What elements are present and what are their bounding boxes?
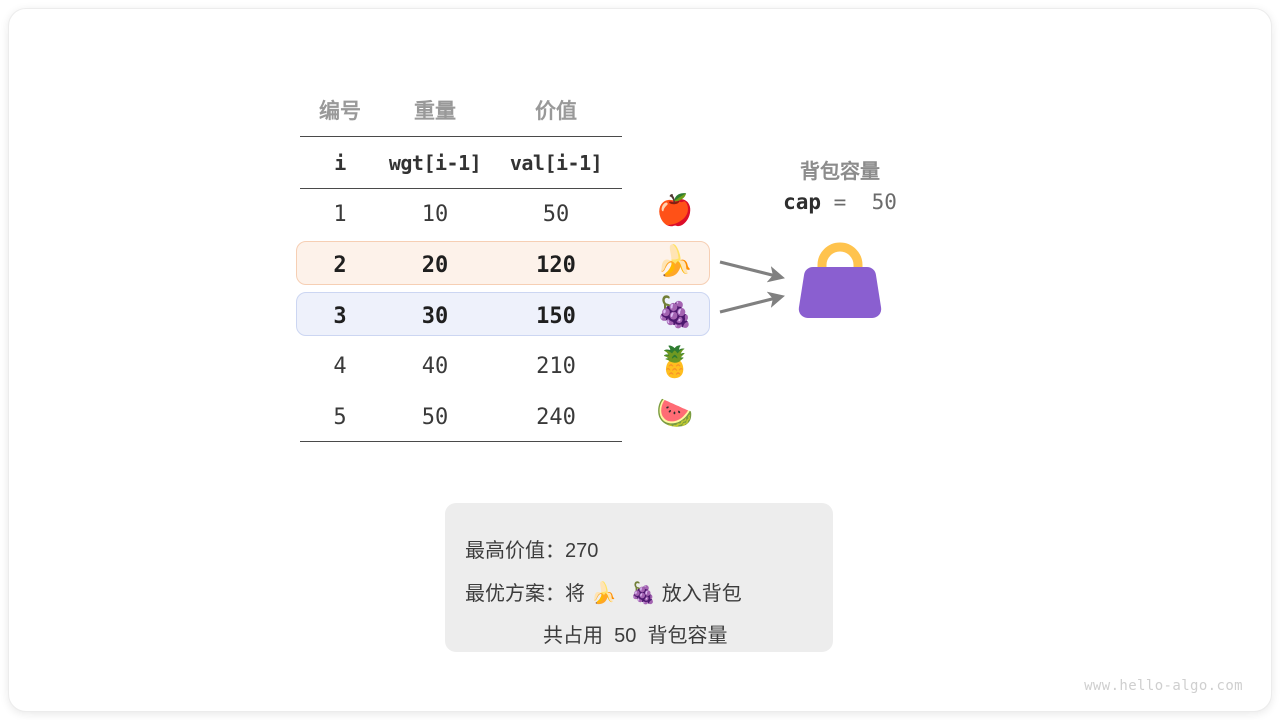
site-watermark: www.hello-algo.com [1084,678,1243,694]
result-plan-line: 最优方案：将 🍌 🍇 放入背包 [465,572,833,615]
cell-value: 210 [490,354,622,379]
cell-weight: 40 [380,354,490,379]
header-cn-value: 价值 [490,95,622,125]
capacity-key: cap [783,190,821,214]
handbag-icon [792,233,888,329]
result-max-value-line: 最高价值：270 [465,530,833,572]
header-code-i: i [300,151,380,175]
cell-id: 3 [300,304,380,329]
capacity-label: 背包容量 [740,155,940,184]
cell-weight: 50 [380,405,490,430]
banana-emoji: 🍌 [652,247,698,277]
table-row: 2 20 120 [300,240,622,290]
cell-weight: 20 [380,253,490,278]
table-header-code: i wgt[i-1] val[i-1] [300,140,622,186]
cell-id: 4 [300,354,380,379]
result-plan-prefix: 最优方案：将 [465,583,591,605]
cell-value: 50 [490,202,622,227]
cell-weight: 10 [380,202,490,227]
pineapple-emoji: 🍍 [652,348,698,378]
table-header-cn: 编号 重量 价值 [300,88,622,132]
header-code-val: val[i-1] [490,151,622,175]
watermelon-emoji: 🍉 [652,399,698,429]
table-row: 4 40 210 [300,341,622,391]
illustration-canvas: 编号 重量 价值 i wgt[i-1] val[i-1] 1 10 50 🍎 2… [0,0,1280,720]
cell-value: 120 [490,253,622,278]
header-code-wgt: wgt[i-1] [380,151,490,175]
table-row: 3 30 150 [300,291,622,341]
apple-emoji: 🍎 [652,196,698,226]
header-cn-weight: 重量 [380,95,490,125]
result-max-value-text: 最高价值：270 [465,540,598,562]
result-capacity-line: 共占用 50 背包容量 [465,615,833,657]
table-rule-top [300,136,622,137]
cell-value: 240 [490,405,622,430]
result-info-box: 最高价值：270 最优方案：将 🍌 🍇 放入背包 共占用 50 背包容量 [445,503,833,652]
result-plan-suffix: 放入背包 [656,583,742,605]
cell-value: 150 [490,304,622,329]
arrow-banana-to-bag [720,262,780,277]
header-cn-id: 编号 [300,95,380,125]
capacity-expression: cap = 50 [740,190,940,214]
capacity-value-text: = 50 [821,190,897,214]
grapes-emoji: 🍇 [652,298,698,328]
cell-id: 2 [300,253,380,278]
table-row: 5 50 240 [300,392,622,442]
cell-weight: 30 [380,304,490,329]
cell-id: 1 [300,202,380,227]
arrow-grapes-to-bag [720,297,780,312]
cell-id: 5 [300,405,380,430]
result-plan-items: 🍌 🍇 [591,581,657,605]
table-row: 1 10 50 [300,189,622,239]
